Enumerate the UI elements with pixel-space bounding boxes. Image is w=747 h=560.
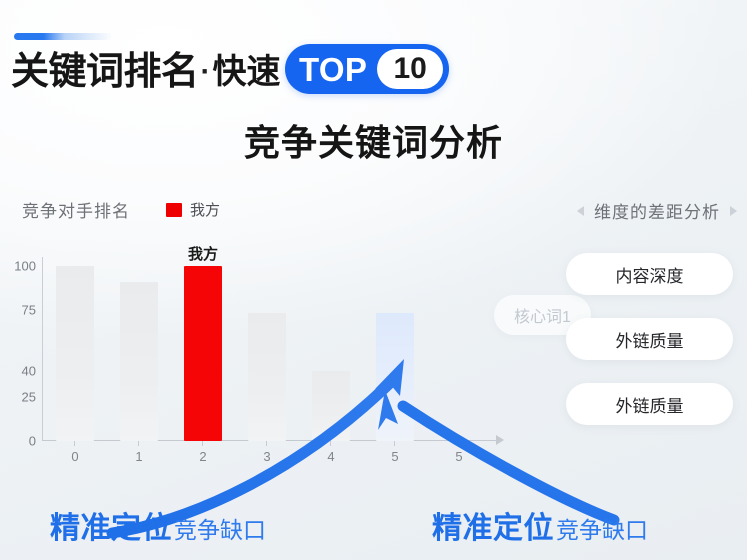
bar-slot[interactable]: 我方2 xyxy=(171,257,235,441)
x-axis-tick xyxy=(138,441,139,446)
dimension-gap-title: 维度的差距分析 xyxy=(594,198,720,223)
chart-title: 竞争对手排名 xyxy=(22,197,130,222)
bar-competitor[interactable] xyxy=(376,313,414,441)
chart-header-right: 维度的差距分析 xyxy=(577,198,737,223)
bar-slot[interactable]: 1 xyxy=(107,257,171,441)
bar-slot[interactable]: 4 xyxy=(299,257,363,441)
x-axis-tick-label: 5 xyxy=(427,449,491,464)
bar-competitor[interactable] xyxy=(312,371,350,441)
y-axis-tick-label: 40 xyxy=(0,363,36,378)
top-rank-badge: TOP 10 xyxy=(285,44,449,94)
legend-label: 我方 xyxy=(190,199,220,220)
caption-right-weak: 竞争缺口 xyxy=(556,511,648,545)
bar-competitor[interactable] xyxy=(248,313,286,441)
caption-left: 精准定位 竞争缺口 xyxy=(50,503,266,547)
y-axis: 1007540250 xyxy=(0,248,36,438)
bar-series: 01我方23455 xyxy=(43,257,495,441)
bar-slot[interactable]: 0 xyxy=(43,257,107,441)
dimension-pill[interactable]: 外链质量 xyxy=(566,318,733,360)
caption-left-weak: 竞争缺口 xyxy=(174,511,266,545)
chart-legend: 我方 xyxy=(166,199,220,220)
bar-slot[interactable]: 5 xyxy=(363,257,427,441)
chart-header-left: 竞争对手排名 我方 xyxy=(22,197,220,222)
x-axis-tick-label: 2 xyxy=(171,449,235,464)
x-axis-tick-label: 0 xyxy=(43,449,107,464)
caption-right: 精准定位 竞争缺口 xyxy=(432,503,648,547)
x-axis-tick-label: 3 xyxy=(235,449,299,464)
x-axis-tick xyxy=(266,441,267,446)
caption-left-strong: 精准定位 xyxy=(50,503,172,547)
top-badge-number-pill: 10 xyxy=(377,49,443,89)
x-axis-tick xyxy=(458,441,459,446)
y-axis-tick-label: 100 xyxy=(0,258,36,273)
x-axis-tick xyxy=(330,441,331,446)
top-badge-number: 10 xyxy=(393,54,426,84)
y-axis-tick-label: 0 xyxy=(0,434,36,449)
headline-separator-dot: · xyxy=(201,57,211,87)
page-subtitle: 竞争关键词分析 xyxy=(0,114,747,166)
x-axis-tick-label: 5 xyxy=(363,449,427,464)
x-axis-tick-label: 4 xyxy=(299,449,363,464)
caption-right-strong: 精准定位 xyxy=(432,503,554,547)
x-axis-arrow-icon xyxy=(496,435,504,445)
y-axis-tick-label: 75 xyxy=(0,302,36,317)
y-axis-tick-label: 25 xyxy=(0,390,36,405)
dimension-pill[interactable]: 内容深度 xyxy=(566,253,733,295)
bar-slot[interactable]: 5 xyxy=(427,257,491,441)
bar-mine-label: 我方 xyxy=(171,243,235,264)
dimension-pill[interactable]: 外链质量 xyxy=(566,383,733,425)
x-axis-tick xyxy=(74,441,75,446)
bar-slot[interactable]: 3 xyxy=(235,257,299,441)
x-axis-tick xyxy=(202,441,203,446)
legend-swatch-icon xyxy=(166,203,182,217)
dimension-pill-list: 内容深度外链质量外链质量 xyxy=(566,253,733,448)
bar-mine[interactable] xyxy=(184,266,222,441)
headline: 关键词排名 · 快速 xyxy=(11,44,281,100)
top-badge-label: TOP xyxy=(299,53,367,86)
chevron-left-icon[interactable] xyxy=(577,206,584,216)
bar-competitor[interactable] xyxy=(120,282,158,441)
x-axis-tick-label: 1 xyxy=(107,449,171,464)
headline-sub-text: 快速 xyxy=(213,55,281,89)
poster-canvas: 关键词排名 · 快速 TOP 10 竞争关键词分析 竞争对手排名 我方 维度的差… xyxy=(0,0,747,560)
x-axis-tick xyxy=(394,441,395,446)
bar-competitor[interactable] xyxy=(56,266,94,441)
accent-bar xyxy=(14,33,112,40)
headline-main-text: 关键词排名 xyxy=(11,53,199,91)
bar-chart: 1007540250 01我方23455 xyxy=(0,248,540,480)
chevron-right-icon[interactable] xyxy=(730,206,737,216)
